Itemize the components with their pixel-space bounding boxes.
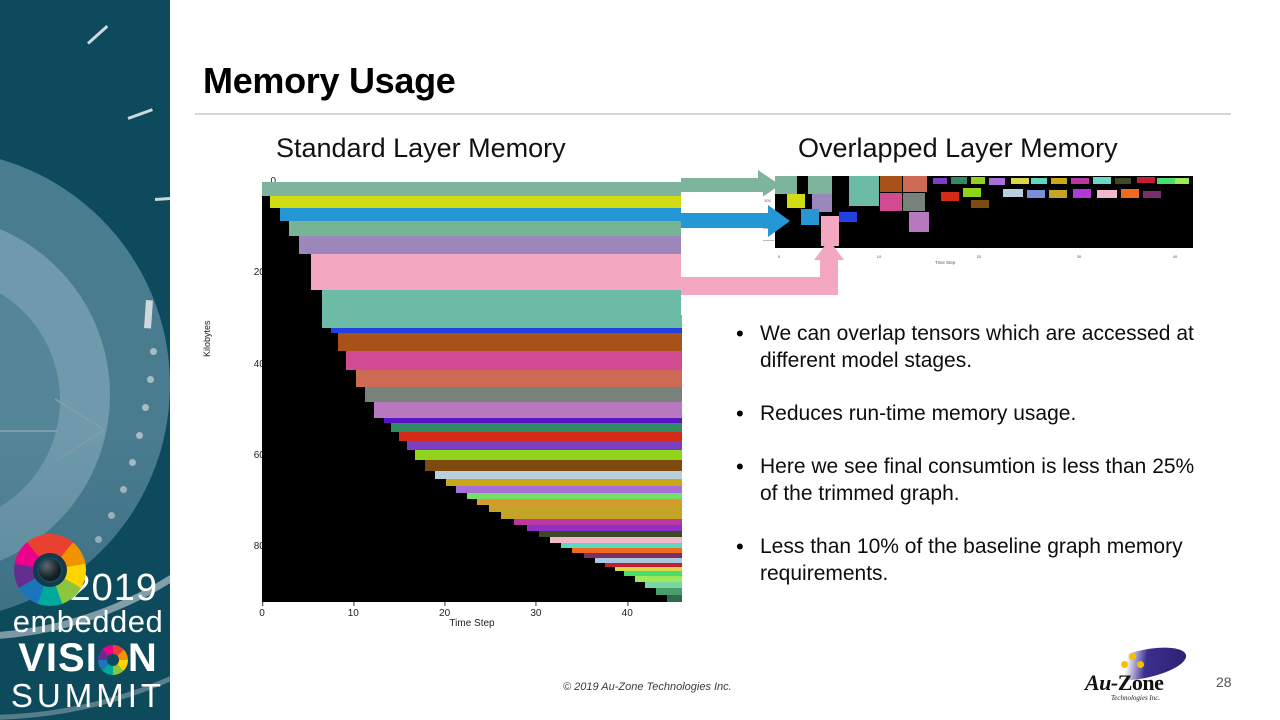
title-divider [195,113,1231,115]
overlapped-memory-block [951,177,967,184]
x-tick-label: 30 [530,608,541,619]
pink-arrow-shaft-horizontal [681,277,838,295]
memory-band [446,479,682,486]
right-xtick-0: 0 [778,254,780,259]
memory-band [365,387,682,402]
auzone-name-au: Au- [1085,670,1118,695]
logo-vision-pre: VISI [18,636,98,680]
x-tick-mark [536,602,537,606]
overlapped-memory-block [1011,178,1029,184]
bullet-list: •We can overlap tensors which are access… [736,320,1214,613]
auzone-dot-3 [1137,661,1144,668]
blue-arrow-shaft [681,213,773,228]
overlapped-memory-block [1175,178,1189,184]
memory-band [501,512,682,519]
overlapped-memory-block [808,176,832,194]
bullet-marker-icon: • [736,320,760,374]
memory-band [435,471,682,479]
memory-band [407,441,682,450]
overlapped-memory-block [989,178,1005,185]
auzone-tagline: Technologies Inc. [1111,694,1160,702]
memory-band [399,432,682,441]
overlapped-memory-block [971,177,985,184]
overlapped-memory-block [1121,189,1139,198]
auzone-logo: Au-Zone Technologies Inc. [1085,650,1190,708]
memory-band [415,450,682,460]
x-tick-mark [445,602,446,606]
auzone-dot-1 [1129,653,1136,660]
memory-band [656,588,682,595]
slide-root: 2019 embedded VISIN SUMMIT Memory Usage … [0,0,1280,720]
auzone-wordmark: Au-Zone [1085,670,1163,696]
left-plot-area [262,182,682,602]
bullet-text: Less than 10% of the baseline graph memo… [760,533,1214,587]
auzone-name-zone: Zone [1118,670,1164,695]
memory-band [322,290,682,327]
overlapped-memory-block [801,209,819,225]
x-tick-label: 40 [622,608,633,619]
memory-band [489,505,682,512]
page-number: 28 [1216,674,1232,690]
bullet-text: Here we see final consumtion is less tha… [760,453,1214,507]
memory-band [338,333,682,351]
overlapped-memory-block [1073,189,1091,198]
memory-band [391,423,682,432]
overlapped-memory-block [903,193,925,211]
overlapped-memory-block [1137,177,1155,183]
bullet-item: •We can overlap tensors which are access… [736,320,1214,374]
memory-band [280,208,682,222]
memory-band [270,196,682,208]
overlapped-memory-block [1051,178,1067,184]
overlapped-memory-block [798,176,808,194]
page-title: Memory Usage [203,60,456,102]
arrow-gap-mask-3 [681,295,1241,315]
right-xtick-2: 20 [977,254,981,259]
pink-arrow-shaft-vertical [820,258,838,296]
overlapped-memory-block [903,176,927,192]
x-tick-label: 0 [259,608,265,619]
logo-vision-post: N [128,636,158,680]
right-plot-area [775,176,1193,248]
overlapped-memory-block [835,176,849,194]
logo-vision-o-ring-icon [98,645,128,675]
overlapped-memory-block [1143,191,1161,198]
overlapped-memory-block [1003,189,1023,197]
green-arrow-shaft [681,178,763,192]
right-chart-heading: Overlapped Layer Memory [798,133,1118,164]
auzone-dot-2 [1121,661,1128,668]
bullet-text: We can overlap tensors which are accesse… [760,320,1214,374]
arrow-gap-mask-1 [681,192,763,213]
logo-embedded-text: embedded [6,606,170,637]
logo-vision-line: VISIN [6,637,170,679]
overlapped-memory-block [880,193,902,211]
bullet-marker-icon: • [736,453,760,507]
memory-band [667,595,682,602]
right-xtick-1: 10 [877,254,881,259]
embedded-vision-summit-logo: 2019 embedded VISIN SUMMIT [6,534,170,714]
memory-band [346,351,682,369]
overlapped-memory-block [909,212,929,232]
overlapped-memory-block [971,200,989,208]
overlapped-memory-block [1097,190,1117,198]
memory-band [356,370,682,387]
overlapped-memory-block [1115,178,1131,184]
x-tick-mark [627,602,628,606]
memory-band [456,486,682,493]
x-tick-mark [262,602,263,606]
overlapped-memory-block [839,212,857,222]
arrow-gap-mask-2 [681,228,763,277]
overlapped-memory-block [963,188,981,197]
overlapped-memory-block [1093,177,1111,184]
right-xtick-3: 30 [1077,254,1081,259]
x-tick-mark [353,602,354,606]
standard-layer-memory-chart: Kilobytes 02000400060008000 010203040 Ti… [214,172,694,632]
right-xtick-4: 40 [1173,254,1177,259]
memory-band [374,402,682,418]
overlapped-memory-block [933,178,947,184]
left-chart-heading: Standard Layer Memory [276,133,566,164]
overlapped-memory-block [880,176,902,192]
overlapped-memory-block [1027,190,1045,198]
blue-arrow-head-icon [768,205,790,237]
bullet-marker-icon: • [736,400,760,427]
pink-arrow-head-icon [814,240,844,260]
x-tick-label: 10 [348,608,359,619]
memory-band [425,460,682,471]
memory-band [262,182,682,196]
bullet-item: •Less than 10% of the baseline graph mem… [736,533,1214,587]
memory-band [289,221,682,236]
logo-summit-text: SUMMIT [6,679,170,714]
overlapped-memory-block [1049,190,1067,198]
sidebar-decoration: 2019 embedded VISIN SUMMIT [0,0,170,720]
bullet-marker-icon: • [736,533,760,587]
x-axis-label: Time Step [449,618,494,629]
overlapped-layer-memory-chart: 0 10 20 30 40 Time Step 0 500 1000 [775,176,1193,248]
overlapped-memory-block [849,176,879,206]
overlapped-memory-block [1157,178,1177,184]
bullet-text: Reduces run-time memory usage. [760,400,1076,427]
overlapped-memory-block [1031,178,1047,184]
logo-color-ring-icon [14,534,86,606]
overlapped-memory-block [1071,178,1089,184]
bullet-item: •Reduces run-time memory usage. [736,400,1214,427]
y-axis-label: Kilobytes [202,320,212,357]
bullet-item: •Here we see final consumtion is less th… [736,453,1214,507]
footer-copyright: © 2019 Au-Zone Technologies Inc. [563,681,732,693]
right-x-axis-label: Time Step [935,260,955,265]
memory-band [311,254,682,291]
overlapped-memory-block [941,192,959,201]
memory-band [299,236,682,253]
